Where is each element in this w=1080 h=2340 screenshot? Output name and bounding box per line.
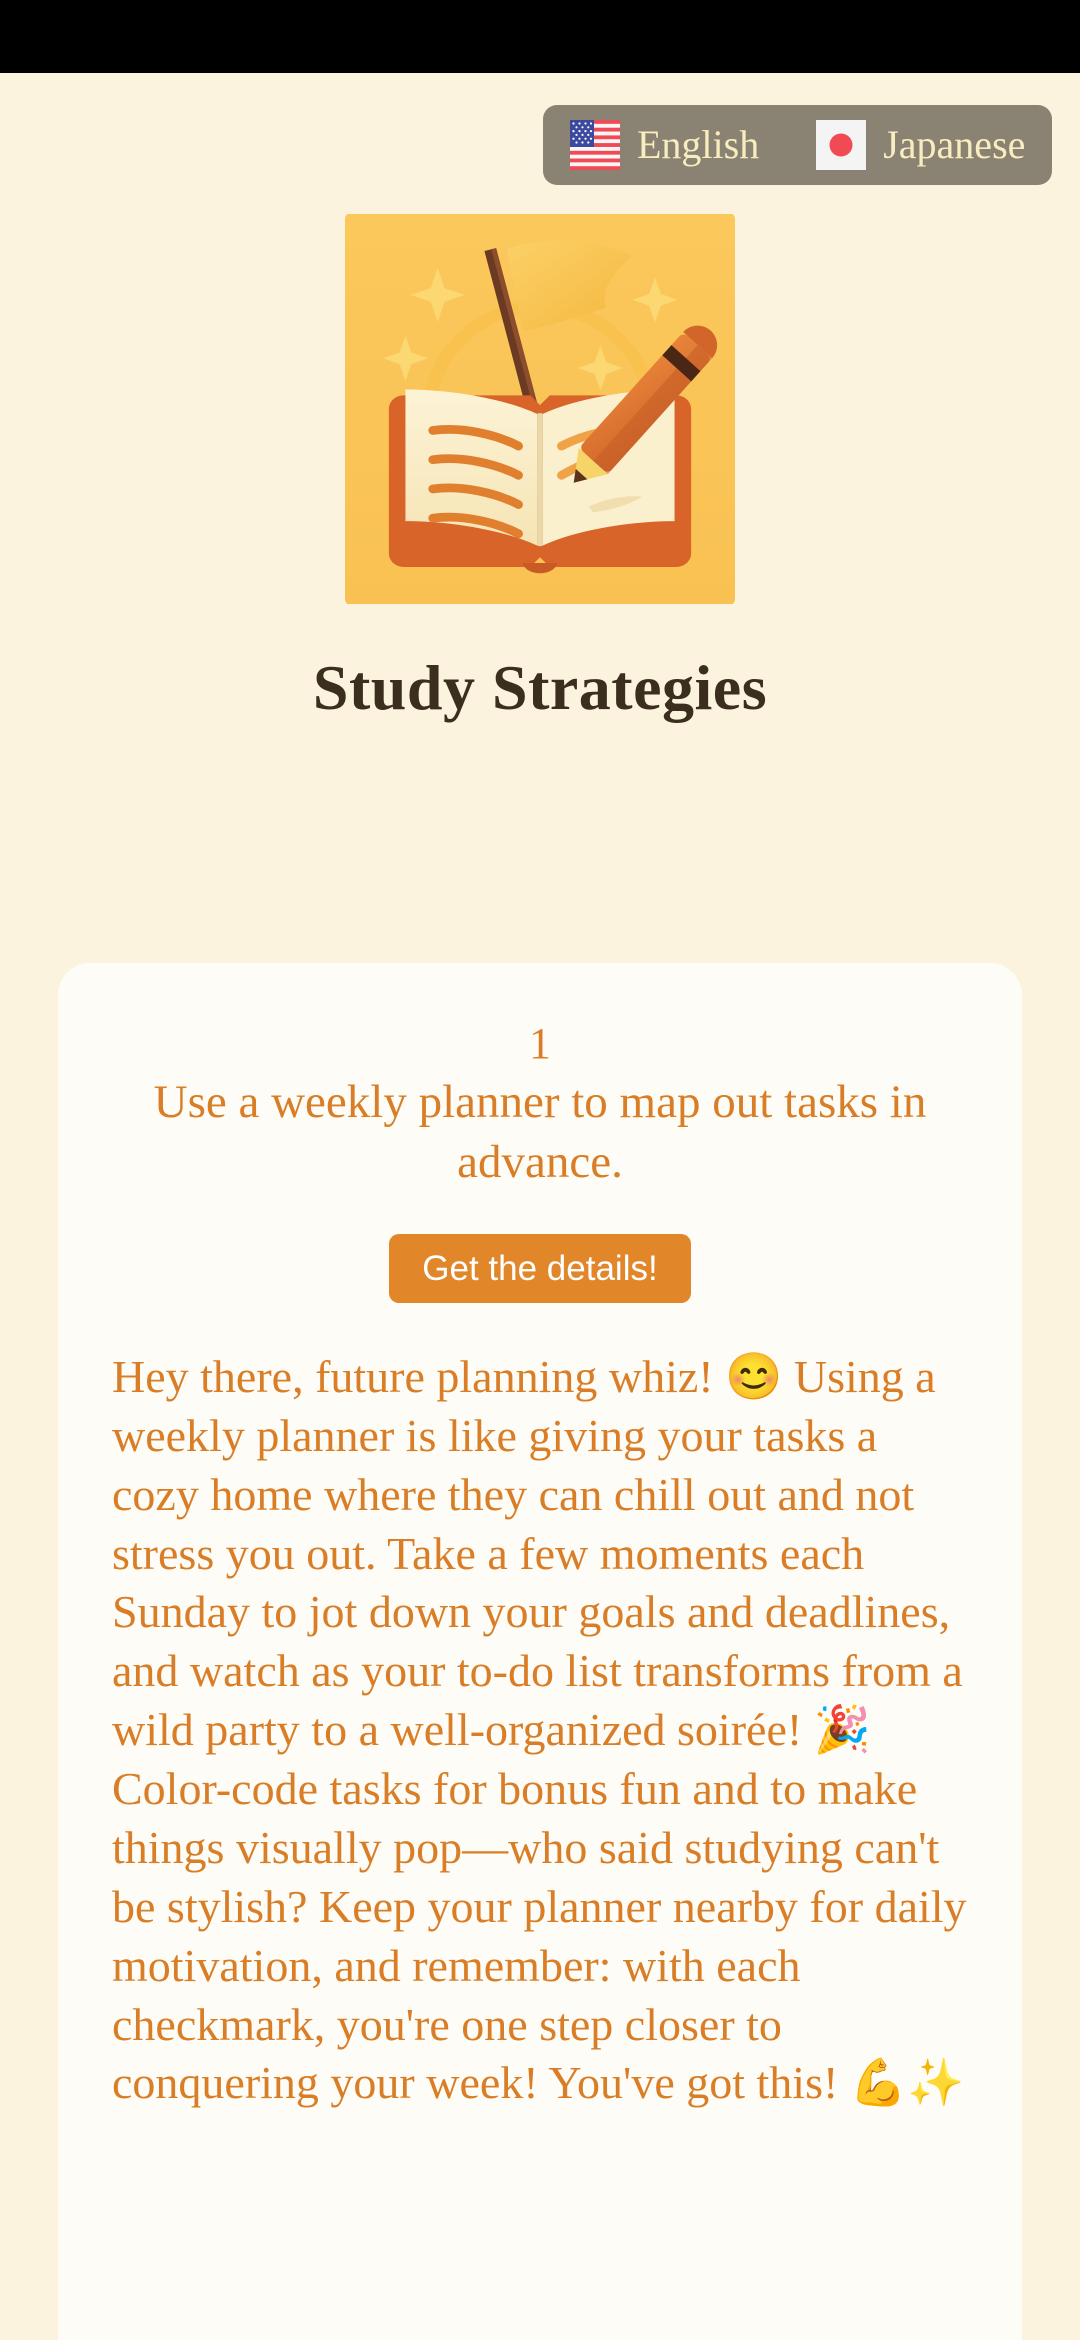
- open-book-flag-pencil-icon: [345, 213, 735, 605]
- language-selector[interactable]: English Japanese: [543, 105, 1052, 185]
- tip-number: 1: [58, 1019, 1022, 1070]
- tip-body-text: Hey there, future planning whiz! 😊 Using…: [58, 1348, 1022, 2113]
- tip-headline: Use a weekly planner to map out tasks in…: [58, 1072, 1022, 1192]
- status-bar: [0, 0, 1080, 73]
- language-option-japanese[interactable]: Japanese: [816, 120, 1025, 170]
- japan-flag-icon: [816, 120, 866, 170]
- language-option-japanese-label: Japanese: [883, 125, 1025, 165]
- screen: English Japanese: [0, 0, 1080, 2340]
- tip-card: 1 Use a weekly planner to map out tasks …: [58, 963, 1022, 2340]
- page-title: Study Strategies: [0, 651, 1080, 725]
- details-button-container: Get the details!: [58, 1234, 1022, 1303]
- us-flag-icon: [570, 120, 620, 170]
- language-option-english-label: English: [637, 125, 759, 165]
- page-content: English Japanese: [0, 73, 1080, 2340]
- get-details-button[interactable]: Get the details!: [389, 1234, 690, 1303]
- language-option-english[interactable]: English: [570, 120, 759, 170]
